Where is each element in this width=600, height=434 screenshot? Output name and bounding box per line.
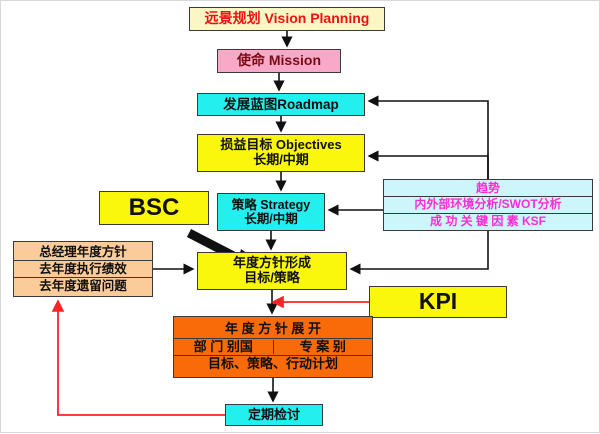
node-inputs[interactable]: 总经理年度方针 去年度执行绩效 去年度遗留问题 <box>13 241 153 297</box>
node-annual-policy-line2: 目标/策略 <box>198 271 346 286</box>
node-objectives-line2: 长期/中期 <box>198 153 364 168</box>
flowchart-canvas: 远景规划 Vision Planning 使命 Mission 发展蓝图Road… <box>0 0 600 433</box>
node-deployment-line1: 年 度 方 针 展 开 <box>174 321 372 339</box>
node-mission[interactable]: 使命 Mission <box>217 49 341 73</box>
node-bsc[interactable]: BSC <box>99 191 209 225</box>
node-annual-policy[interactable]: 年度方针形成 目标/策略 <box>197 252 347 290</box>
node-objectives-line1: 损益目标 Objectives <box>198 138 364 153</box>
node-periodic-review[interactable]: 定期检讨 <box>225 404 323 426</box>
node-roadmap-label: 发展蓝图Roadmap <box>198 97 364 112</box>
node-deployment[interactable]: 年 度 方 针 展 开 部 门 别国 专 案 别 目标、策略、行动计划 <box>173 316 373 378</box>
node-inputs-line3: 去年度遗留问题 <box>14 278 152 294</box>
node-trend-analysis[interactable]: 趋势 内外部环境分析/SWOT分析 成 功 关 键 因 素 KSF <box>383 179 593 231</box>
node-deployment-line3: 目标、策略、行动计划 <box>174 356 372 373</box>
node-strategy-line2: 长期/中期 <box>218 212 324 226</box>
node-periodic-review-label: 定期检讨 <box>226 408 322 423</box>
node-roadmap[interactable]: 发展蓝图Roadmap <box>197 93 365 116</box>
node-deployment-line2-right: 专 案 别 <box>274 340 373 355</box>
node-inputs-line2: 去年度执行绩效 <box>14 261 152 278</box>
node-trend-line3: 成 功 关 键 因 素 KSF <box>384 214 592 229</box>
node-vision-label: 远景规划 Vision Planning <box>190 11 384 27</box>
node-vision[interactable]: 远景规划 Vision Planning <box>189 7 385 31</box>
node-kpi-label: KPI <box>370 289 506 315</box>
node-bsc-label: BSC <box>100 195 208 222</box>
node-objectives[interactable]: 损益目标 Objectives 长期/中期 <box>197 134 365 172</box>
node-strategy[interactable]: 策略 Strategy 长期/中期 <box>217 193 325 231</box>
node-annual-policy-line1: 年度方针形成 <box>198 256 346 271</box>
node-mission-label: 使命 Mission <box>218 53 340 69</box>
node-deployment-line2-left: 部 门 别国 <box>174 340 274 355</box>
node-trend-line2: 内外部环境分析/SWOT分析 <box>384 197 592 213</box>
node-strategy-line1: 策略 Strategy <box>218 198 324 212</box>
node-trend-line1: 趋势 <box>384 181 592 197</box>
node-kpi[interactable]: KPI <box>369 286 507 318</box>
node-inputs-line1: 总经理年度方针 <box>14 244 152 261</box>
node-deployment-row2: 部 门 别国 专 案 别 <box>174 339 372 357</box>
